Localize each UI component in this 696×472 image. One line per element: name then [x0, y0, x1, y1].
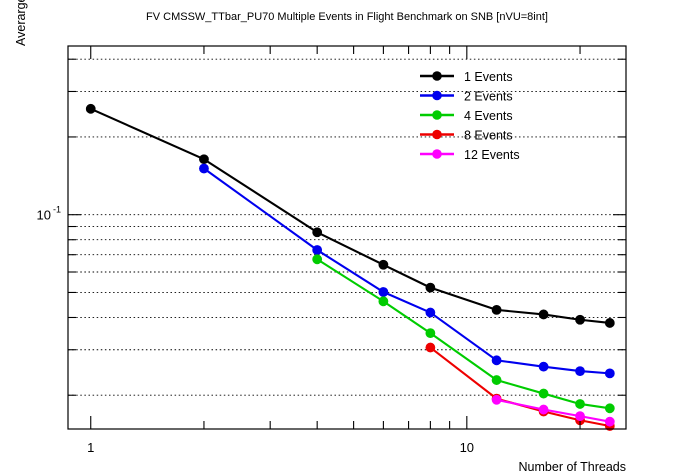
- legend-label-4: 12 Events: [464, 148, 520, 162]
- data-point: [539, 310, 548, 319]
- data-point: [199, 155, 208, 164]
- legend-label-2: 4 Events: [464, 109, 513, 123]
- legend-marker-2: [432, 110, 442, 120]
- legend-marker-0: [432, 71, 442, 81]
- y-tick-label-exponent: -1: [53, 205, 61, 215]
- legend-marker-4: [432, 149, 442, 159]
- data-point: [426, 343, 435, 352]
- y-axis-title: Averarge Time per Event [s]: [14, 0, 28, 46]
- data-point: [492, 375, 501, 384]
- data-point: [539, 389, 548, 398]
- data-point: [539, 405, 548, 414]
- chart-svg: FV CMSSW_TTbar_PU70 Multiple Events in F…: [0, 0, 696, 472]
- data-point: [605, 404, 614, 413]
- chart-title: FV CMSSW_TTbar_PU70 Multiple Events in F…: [146, 11, 548, 23]
- data-point: [426, 329, 435, 338]
- data-point: [379, 287, 388, 296]
- data-point: [492, 305, 501, 314]
- data-point: [313, 228, 322, 237]
- data-point: [86, 104, 95, 113]
- legend-label-1: 2 Events: [464, 90, 513, 104]
- data-point: [492, 395, 501, 404]
- data-point: [575, 399, 584, 408]
- x-axis-title: Number of Threads: [519, 460, 626, 472]
- plot-canvas: FV CMSSW_TTbar_PU70 Multiple Events in F…: [0, 0, 696, 472]
- data-point: [313, 255, 322, 264]
- data-point: [199, 164, 208, 173]
- data-point: [426, 308, 435, 317]
- data-point: [379, 297, 388, 306]
- data-point: [575, 367, 584, 376]
- data-point: [379, 260, 388, 269]
- legend-marker-1: [432, 91, 442, 101]
- y-tick-label-mantissa: 10: [37, 208, 51, 223]
- x-tick-label: 10: [460, 440, 474, 455]
- legend-label-3: 8 Events: [464, 129, 513, 143]
- data-point: [492, 356, 501, 365]
- data-point: [426, 283, 435, 292]
- x-tick-label: 1: [87, 440, 94, 455]
- data-point: [313, 245, 322, 254]
- data-point: [539, 362, 548, 371]
- data-point: [575, 315, 584, 324]
- data-point: [575, 412, 584, 421]
- data-point: [605, 369, 614, 378]
- legend-label-0: 1 Events: [464, 70, 513, 84]
- chart-background: [0, 0, 696, 472]
- data-point: [605, 417, 614, 426]
- legend-marker-3: [432, 130, 442, 140]
- data-point: [605, 318, 614, 327]
